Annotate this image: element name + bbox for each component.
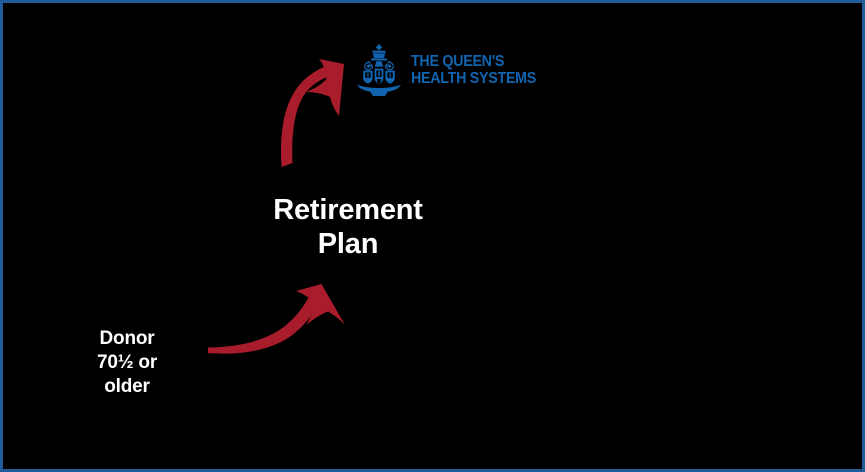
queens-health-systems-crest-icon — [355, 43, 403, 97]
retirement-plan-line-2: Plan — [208, 227, 488, 261]
donor-to-plan-arrow — [208, 284, 345, 354]
donor-line-1: Donor — [62, 327, 192, 351]
logo-wordmark: THE QUEEN'S HEALTH SYSTEMS — [411, 53, 536, 88]
retirement-plan-label: Retirement Plan — [208, 193, 488, 261]
queens-health-systems-logo: THE QUEEN'S HEALTH SYSTEMS — [355, 43, 547, 97]
logo-wordmark-line-1: THE QUEEN'S — [411, 53, 536, 70]
donor-line-3: older — [62, 375, 192, 399]
diagram-slide: THE QUEEN'S HEALTH SYSTEMS Retirement Pl… — [0, 0, 865, 472]
donor-label: Donor 70½ or older — [62, 327, 192, 399]
plan-to-organization-arrow — [281, 59, 344, 167]
donor-line-2: 70½ or — [62, 351, 192, 375]
retirement-plan-line-1: Retirement — [208, 193, 488, 227]
logo-wordmark-line-2: HEALTH SYSTEMS — [411, 70, 536, 87]
